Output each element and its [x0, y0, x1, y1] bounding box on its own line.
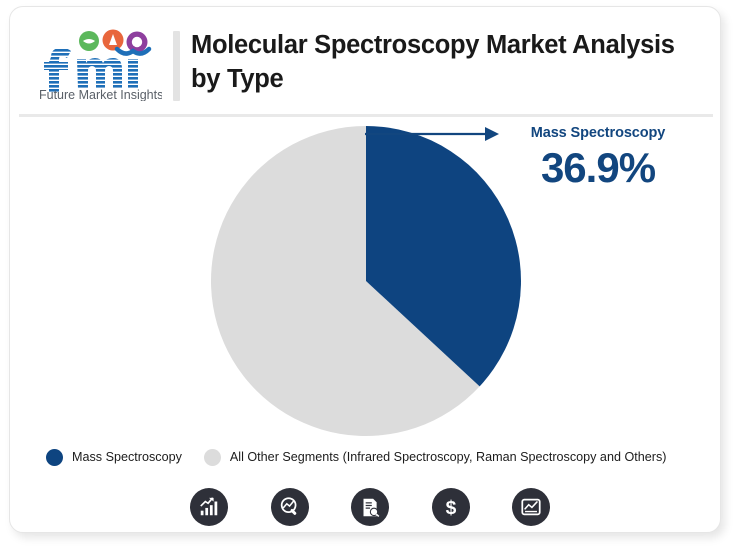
page-title: Molecular Spectroscopy Market Analysis b…: [191, 29, 691, 96]
legend-item-mass-spectroscopy[interactable]: Mass Spectroscopy: [46, 449, 182, 466]
legend-swatch-icon: [46, 449, 63, 466]
chart-area: Mass Spectroscopy 36.9%: [10, 117, 721, 437]
legend-label: Mass Spectroscopy: [72, 450, 182, 464]
magnifier-trend-icon: [271, 488, 309, 526]
callout-arrow-icon: [365, 122, 505, 146]
callout-block: Mass Spectroscopy 36.9%: [498, 125, 698, 189]
infographic-card: Future Market Insights Molecular Spectro…: [9, 6, 721, 533]
report-document-icon: [351, 488, 389, 526]
card-header: Future Market Insights Molecular Spectro…: [10, 7, 720, 114]
bar-chart-growth-icon: [190, 488, 228, 526]
callout-value: 36.9%: [498, 147, 698, 189]
svg-text:$: $: [445, 498, 456, 518]
header-separator: [173, 31, 180, 101]
dollar-sign-icon: $: [432, 488, 470, 526]
icon-row: $: [190, 483, 550, 531]
line-chart-frame-icon: [512, 488, 550, 526]
legend-item-all-other-segments[interactable]: All Other Segments (Infrared Spectroscop…: [204, 449, 667, 466]
pie-chart: [210, 125, 522, 437]
logo-tagline: Future Market Insights: [39, 88, 162, 101]
callout-label: Mass Spectroscopy: [498, 125, 698, 141]
legend-label: All Other Segments (Infrared Spectroscop…: [230, 450, 667, 464]
legend-swatch-icon: [204, 449, 221, 466]
chart-legend: Mass Spectroscopy All Other Segments (In…: [46, 444, 706, 470]
fmi-logo: Future Market Insights: [37, 29, 162, 101]
